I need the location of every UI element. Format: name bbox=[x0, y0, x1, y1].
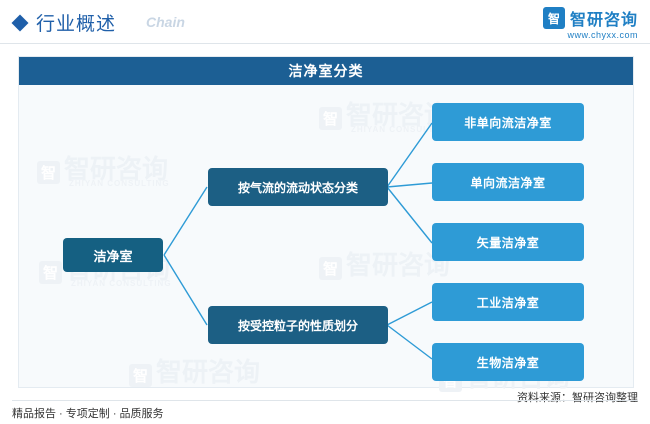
node-leaf-industrial[interactable]: 工业洁净室 bbox=[432, 283, 584, 321]
connector-root-branch-1 bbox=[164, 187, 207, 255]
node-branch-2[interactable]: 按受控粒子的性质划分 bbox=[208, 306, 388, 344]
connector-branch1-leaf-2 bbox=[387, 183, 432, 187]
brand-logo: 智 智研咨询 bbox=[543, 6, 638, 30]
connector-branch1-leaf-3 bbox=[387, 187, 432, 243]
diamond-icon bbox=[12, 15, 29, 32]
node-root[interactable]: 洁净室 bbox=[63, 238, 163, 272]
brand-url: www.chyxx.com bbox=[567, 30, 638, 40]
connector-branch1-leaf-1 bbox=[387, 123, 432, 187]
logo-mark-icon: 智 bbox=[543, 7, 565, 29]
screenshot-root: 行业概述 Chain 智 智研咨询 www.chyxx.com 洁净室分类 智智… bbox=[0, 0, 650, 424]
connector-branch2-leaf-2 bbox=[387, 325, 432, 359]
node-leaf-non-unidirectional[interactable]: 非单向流洁净室 bbox=[432, 103, 584, 141]
node-leaf-vector[interactable]: 矢量洁净室 bbox=[432, 223, 584, 261]
header-divider bbox=[0, 43, 650, 44]
connector-branch2-leaf-1 bbox=[387, 302, 432, 325]
logo-text: 智研咨询 bbox=[570, 6, 638, 30]
page-title: 行业概述 bbox=[36, 9, 116, 36]
source-note: 资料来源：智研咨询整理 bbox=[517, 389, 638, 405]
node-leaf-unidirectional[interactable]: 单向流洁净室 bbox=[432, 163, 584, 201]
footer-tagline: 精品报告 · 专项定制 · 品质服务 bbox=[12, 405, 164, 421]
connector-root-branch-2 bbox=[164, 255, 207, 325]
page-subtitle: Chain bbox=[146, 14, 185, 30]
node-leaf-biological[interactable]: 生物洁净室 bbox=[432, 343, 584, 381]
node-branch-1[interactable]: 按气流的流动状态分类 bbox=[208, 168, 388, 206]
page-header: 行业概述 Chain 智 智研咨询 www.chyxx.com bbox=[0, 0, 650, 44]
footer-divider bbox=[12, 400, 638, 401]
diagram-panel: 洁净室分类 智智研咨询 ZHIYAN CONSULTING 智智研咨询 ZHIY… bbox=[18, 56, 634, 388]
